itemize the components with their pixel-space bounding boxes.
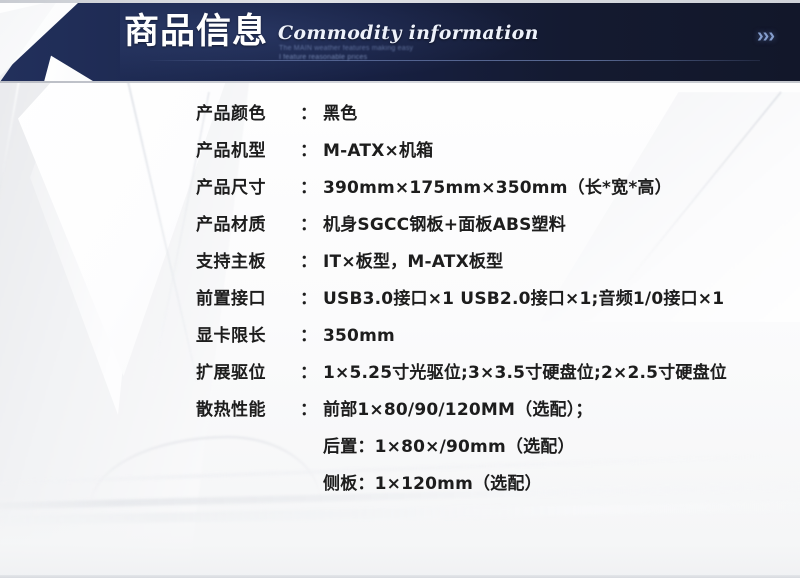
spec-row: 显卡限长：350mm: [196, 321, 796, 358]
spec-label: 产品机型: [196, 136, 300, 161]
banner-fold-shape-c: [36, 52, 186, 83]
banner-top-hairline: [0, 0, 800, 3]
banner-divider-line: [150, 60, 760, 61]
spec-value: 1×5.25寸光驱位;3×3.5寸硬盘位;2×2.5寸硬盘位: [323, 358, 727, 383]
spec-value: USB3.0接口×1 USB2.0接口×1;音频1/0接口×1: [323, 284, 724, 309]
spec-colon: ：: [300, 358, 317, 383]
spec-value: 黑色: [323, 99, 357, 124]
spec-label: 扩展驱位: [196, 358, 300, 383]
spec-value: 后置：1×80×/90mm（选配）: [323, 432, 575, 457]
chevron-right-triple-icon: ›››: [757, 26, 774, 46]
spec-colon: ：: [300, 210, 317, 235]
spec-colon: ：: [300, 99, 317, 124]
spec-value: 前部1×80/90/120MM（选配）；: [323, 395, 593, 420]
spec-row-continuation: ：侧板：1×120mm（选配）: [196, 469, 796, 506]
spec-row: 前置接口：USB3.0接口×1 USB2.0接口×1;音频1/0接口×1: [196, 284, 796, 321]
spec-row: 产品颜色：黑色: [196, 99, 796, 136]
spec-row: 产品材质：机身SGCC钢板+面板ABS塑料: [196, 210, 796, 247]
spec-value: IT×板型，M-ATX板型: [323, 247, 503, 272]
specification-list: 产品颜色：黑色产品机型：M-ATX×机箱产品尺寸：390mm×175mm×350…: [196, 99, 796, 506]
spec-label: 产品颜色: [196, 99, 300, 124]
spec-row: 支持主板：IT×板型，M-ATX板型: [196, 247, 796, 284]
spec-colon: ：: [300, 321, 317, 346]
spec-row: 散热性能：前部1×80/90/120MM（选配）；: [196, 395, 796, 432]
spec-value: M-ATX×机箱: [323, 136, 433, 161]
spec-row: 产品尺寸：390mm×175mm×350mm（长*宽*高）: [196, 173, 796, 210]
spec-row-continuation: ：后置：1×80×/90mm（选配）: [196, 432, 796, 469]
spec-colon: ：: [300, 136, 317, 161]
product-info-banner: 商品信息 Commodity information The MAIN weat…: [0, 0, 800, 578]
spec-label: 前置接口: [196, 284, 300, 309]
spec-row: 扩展驱位：1×5.25寸光驱位;3×3.5寸硬盘位;2×2.5寸硬盘位: [196, 358, 796, 395]
spec-value: 390mm×175mm×350mm（长*宽*高）: [323, 173, 672, 198]
banner-header: 商品信息 Commodity information The MAIN weat…: [0, 0, 800, 83]
page-title: 商品信息: [124, 15, 268, 50]
spec-colon: ：: [300, 247, 317, 272]
spec-colon: ：: [300, 173, 317, 198]
spec-value: 机身SGCC钢板+面板ABS塑料: [323, 210, 566, 235]
spec-label: 显卡限长: [196, 321, 300, 346]
page-title-english: Commodity information: [278, 22, 539, 44]
spec-row: 产品机型：M-ATX×机箱: [196, 136, 796, 173]
spec-label: 散热性能: [196, 395, 300, 420]
banner-subline-one: The MAIN weather features making easy: [279, 44, 413, 53]
spec-label: 产品材质: [196, 210, 300, 235]
spec-value: 350mm: [323, 326, 395, 346]
spec-colon: ：: [300, 395, 317, 420]
banner-subline-two: I feature reasonable prices: [279, 53, 367, 62]
spec-value: 侧板：1×120mm（选配）: [323, 469, 542, 494]
spec-label: 产品尺寸: [196, 173, 300, 198]
spec-label: 支持主板: [196, 247, 300, 272]
banner-bottom-hairline: [0, 81, 800, 83]
spec-colon: ：: [300, 284, 317, 309]
